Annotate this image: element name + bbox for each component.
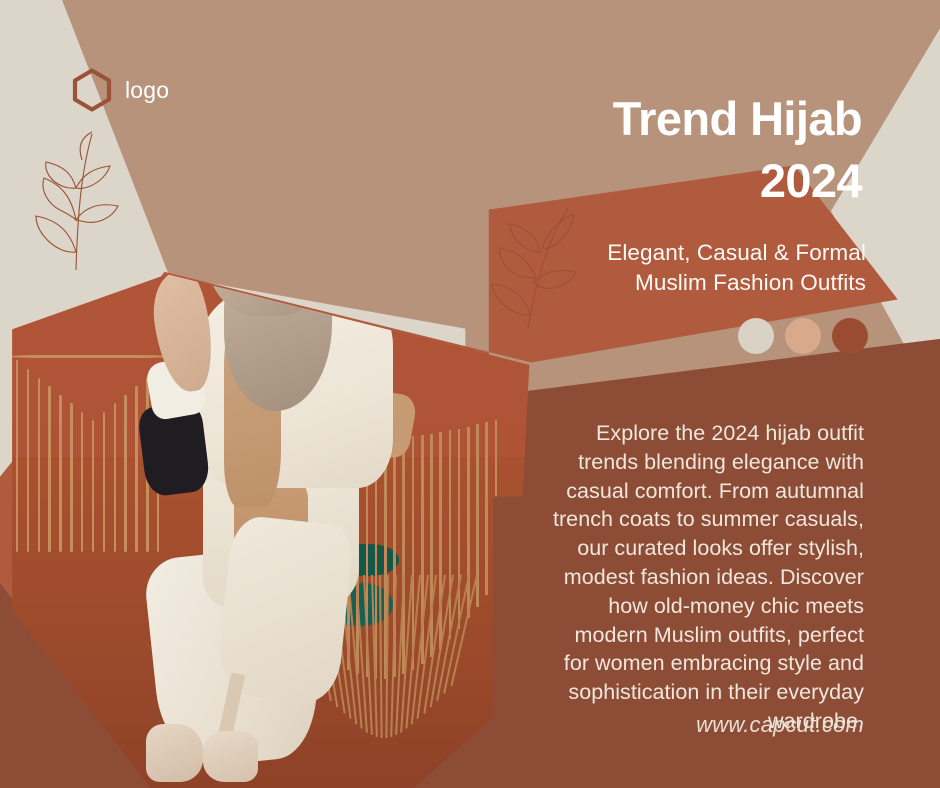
body-line: how old-money chic meets (492, 592, 864, 621)
body-copy: Explore the 2024 hijab outfit trends ble… (492, 419, 864, 736)
body-line: modest fashion ideas. Discover (492, 563, 864, 592)
logo-text: logo (125, 79, 169, 102)
hexagon-outline-icon (72, 68, 112, 112)
color-swatch-group (738, 318, 868, 354)
body-line: sophistication in their everyday (492, 678, 864, 707)
body-line: trends blending elegance with (492, 448, 864, 477)
logo[interactable]: logo (72, 68, 169, 112)
poster-content: logo Trend Hijab 2024 Elegant, Casual & … (0, 0, 940, 788)
subtitle-line-1: Elegant, Casual & Formal (446, 238, 866, 268)
body-line: our curated looks offer stylish, (492, 534, 864, 563)
swatch-terracotta[interactable] (832, 318, 868, 354)
website-url[interactable]: www.capcut.com (696, 712, 864, 738)
body-line: modern Muslim outfits, perfect (492, 621, 864, 650)
title-line-2: 2024 (442, 150, 862, 212)
body-line: Explore the 2024 hijab outfit (492, 419, 864, 448)
swatch-cream[interactable] (738, 318, 774, 354)
page-title: Trend Hijab 2024 (442, 88, 862, 212)
body-line: for women embracing style and (492, 649, 864, 678)
poster-canvas: logo Trend Hijab 2024 Elegant, Casual & … (0, 0, 940, 788)
subtitle: Elegant, Casual & Formal Muslim Fashion … (446, 238, 866, 298)
body-line: casual comfort. From autumnal (492, 477, 864, 506)
subtitle-line-2: Muslim Fashion Outfits (446, 268, 866, 298)
swatch-peach[interactable] (785, 318, 821, 354)
title-line-1: Trend Hijab (613, 92, 862, 145)
body-line: trench coats to summer casuals, (492, 505, 864, 534)
